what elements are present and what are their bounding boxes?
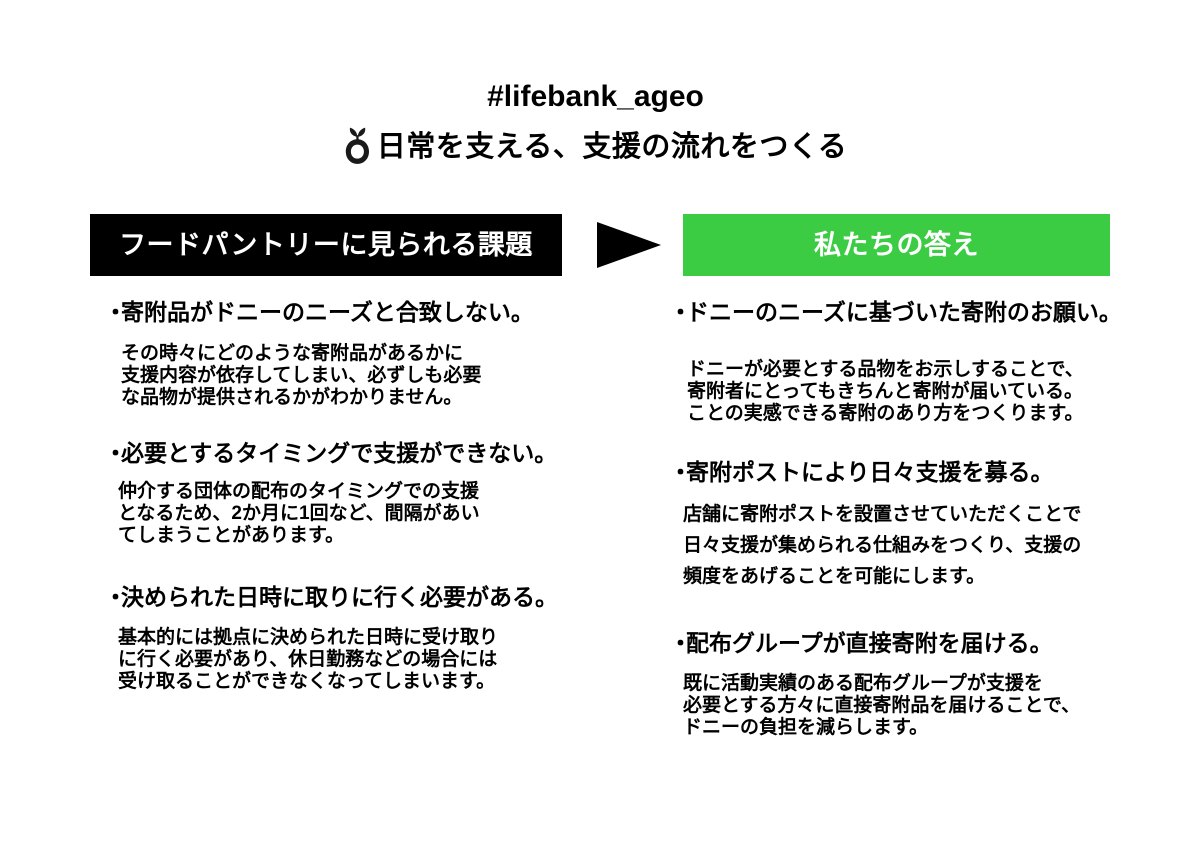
answer-entry-1: ・ ドニーのニーズに基づいた寄附のお願い。 ドニーが必要とする品物をお示しするこ… xyxy=(669,298,1159,425)
triangle-right-icon xyxy=(597,222,661,268)
tagline-text: 日常を支える、支援の流れをつくる xyxy=(377,130,848,164)
problem-entry-2-heading-text: 必要とするタイミングで支援ができない。 xyxy=(121,439,604,467)
body-line: 受け取ることができなくなってしまいます。 xyxy=(118,671,604,693)
problem-entry-3-heading: ・ 決められた日時に取りに行く必要がある。 xyxy=(104,583,604,611)
body-line: 店舗に寄附ポストを設置させていただくことで xyxy=(683,499,1159,530)
slide-canvas: #lifebank_ageo 日常を支える、支援の流れをつくる フードパントリー… xyxy=(0,0,1191,842)
problem-entry-3-body: 基本的には拠点に決められた日時に受け取り に行く必要があり、休日勤務などの場合に… xyxy=(118,627,604,693)
body-line: 仲介する団体の配布のタイミングでの支援 xyxy=(118,481,604,503)
bullet-icon: ・ xyxy=(104,439,121,467)
body-line: 日々支援が集められる仕組みをつくり、支援の xyxy=(683,530,1159,561)
problem-banner: フードパントリーに見られる課題 xyxy=(90,214,562,276)
answer-entry-1-heading: ・ ドニーのニーズに基づいた寄附のお願い。 xyxy=(669,298,1159,326)
page-title: #lifebank_ageo xyxy=(0,79,1191,115)
answer-entry-1-heading-text: ドニーのニーズに基づいた寄附のお願い。 xyxy=(686,298,1159,326)
body-line: ことの実感できる寄附のあり方をつくります。 xyxy=(687,403,1159,425)
bullet-icon: ・ xyxy=(104,298,121,326)
bullet-icon: ・ xyxy=(104,583,121,611)
answer-entry-3-heading-text: 配布グループが直接寄附を届ける。 xyxy=(686,629,1159,657)
bullet-icon: ・ xyxy=(669,298,686,326)
answer-entry-3: ・ 配布グループが直接寄附を届ける。 既に活動実績のある配布グループが支援を 必… xyxy=(669,629,1159,739)
body-line: 頻度をあげることを可能にします。 xyxy=(683,561,1159,592)
body-line: てしまうことがあります。 xyxy=(118,525,604,547)
body-line: ドニーの負担を減らします。 xyxy=(683,717,1159,739)
apple-sprout-icon xyxy=(344,125,370,165)
problem-entry-1-heading-text: 寄附品がドニーのニーズと合致しない。 xyxy=(121,298,604,326)
body-line: 基本的には拠点に決められた日時に受け取り xyxy=(118,627,604,649)
tagline-row: 日常を支える、支援の流れをつくる xyxy=(0,128,1191,165)
problem-entry-1: ・ 寄附品がドニーのニーズと合致しない。 その時々にどのような寄附品があるかに … xyxy=(104,298,604,409)
problem-entry-1-heading: ・ 寄附品がドニーのニーズと合致しない。 xyxy=(104,298,604,326)
body-line: 必要とする方々に直接寄附品を届けることで、 xyxy=(683,695,1159,717)
problem-entry-1-body: その時々にどのような寄附品があるかに 支援内容が依存してしまい、必ずしも必要 な… xyxy=(121,343,604,409)
answer-entry-1-body: ドニーが必要とする品物をお示しすることで、 寄附者にとってもきちんと寄附が届いて… xyxy=(687,359,1159,425)
problems-column: ・ 寄附品がドニーのニーズと合致しない。 その時々にどのような寄附品があるかに … xyxy=(104,298,604,693)
answer-banner: 私たちの答え xyxy=(683,214,1110,276)
bullet-icon: ・ xyxy=(669,458,686,486)
answer-entry-2-heading: ・ 寄附ポストにより日々支援を募る。 xyxy=(669,458,1159,486)
body-line: 支援内容が依存してしまい、必ずしも必要 xyxy=(121,365,604,387)
answer-entry-2-heading-text: 寄附ポストにより日々支援を募る。 xyxy=(686,458,1159,486)
body-line: 寄附者にとってもきちんと寄附が届いている。 xyxy=(687,381,1159,403)
problem-entry-2-body: 仲介する団体の配布のタイミングでの支援 となるため、2か月に1回など、間隔があい… xyxy=(118,481,604,547)
answers-column: ・ ドニーのニーズに基づいた寄附のお願い。 ドニーが必要とする品物をお示しするこ… xyxy=(669,298,1159,739)
body-line: に行く必要があり、休日勤務などの場合には xyxy=(118,649,604,671)
body-line: となるため、2か月に1回など、間隔があい xyxy=(118,503,604,525)
answer-entry-3-heading: ・ 配布グループが直接寄附を届ける。 xyxy=(669,629,1159,657)
body-line: な品物が提供されるかがわかりません。 xyxy=(121,387,604,409)
problem-entry-3-heading-text: 決められた日時に取りに行く必要がある。 xyxy=(121,583,604,611)
problem-entry-2: ・ 必要とするタイミングで支援ができない。 仲介する団体の配布のタイミングでの支… xyxy=(104,439,604,547)
answer-entry-3-body: 既に活動実績のある配布グループが支援を 必要とする方々に直接寄附品を届けることで… xyxy=(683,673,1159,739)
problem-entry-3: ・ 決められた日時に取りに行く必要がある。 基本的には拠点に決められた日時に受け… xyxy=(104,583,604,693)
answer-entry-2-body: 店舗に寄附ポストを設置させていただくことで 日々支援が集められる仕組みをつくり、… xyxy=(683,499,1159,592)
problem-entry-2-heading: ・ 必要とするタイミングで支援ができない。 xyxy=(104,439,604,467)
bullet-icon: ・ xyxy=(669,629,686,657)
body-line: その時々にどのような寄附品があるかに xyxy=(121,343,604,365)
body-line: 既に活動実績のある配布グループが支援を xyxy=(683,673,1159,695)
body-line: ドニーが必要とする品物をお示しすることで、 xyxy=(687,359,1159,381)
answer-entry-2: ・ 寄附ポストにより日々支援を募る。 店舗に寄附ポストを設置させていただくことで… xyxy=(669,458,1159,592)
